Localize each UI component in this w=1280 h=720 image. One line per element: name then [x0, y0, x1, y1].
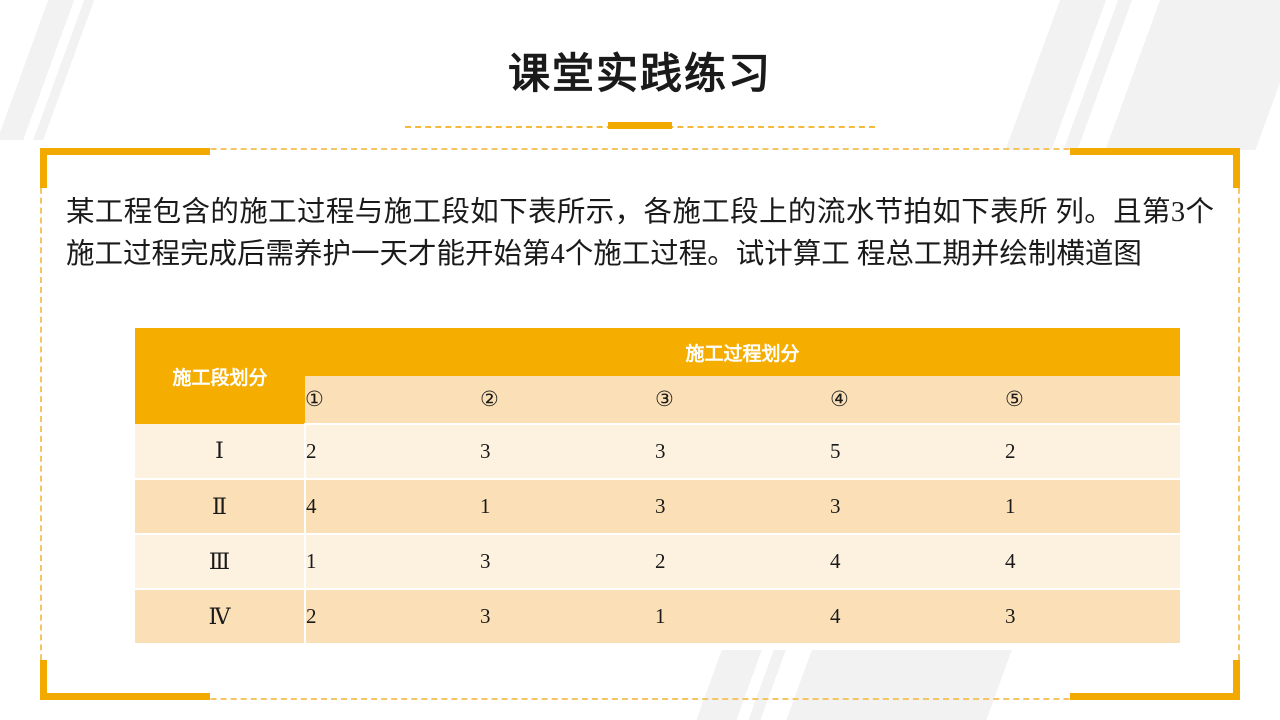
process-label-4: ④	[830, 376, 1005, 424]
cell-r4c5: 3	[1005, 589, 1180, 644]
table-row: Ⅲ 1 3 2 4 4	[135, 534, 1180, 589]
cell-r3c1: 1	[305, 534, 480, 589]
process-label-5: ⑤	[1005, 376, 1180, 424]
row-label-2: Ⅱ	[135, 479, 305, 534]
cell-r4c4: 4	[830, 589, 1005, 644]
cell-r4c1: 2	[305, 589, 480, 644]
cell-r4c3: 1	[655, 589, 830, 644]
corner-bracket-bottom-left	[40, 660, 210, 700]
process-label-2: ②	[480, 376, 655, 424]
cell-r2c2: 1	[480, 479, 655, 534]
cell-r4c2: 3	[480, 589, 655, 644]
cell-r1c3: 3	[655, 424, 830, 479]
corner-bracket-top-right	[1070, 148, 1240, 188]
table-row: Ⅳ 2 3 1 4 3	[135, 589, 1180, 644]
cell-r3c5: 4	[1005, 534, 1180, 589]
cell-r2c5: 1	[1005, 479, 1180, 534]
cell-r3c2: 3	[480, 534, 655, 589]
cell-r3c3: 2	[655, 534, 830, 589]
flow-rhythm-table: 施工段划分 施工过程划分 ① ② ③ ④ ⑤ Ⅰ 2 3 3 5 2 Ⅱ 4	[135, 328, 1180, 645]
cell-r2c1: 4	[305, 479, 480, 534]
row-label-4: Ⅳ	[135, 589, 305, 644]
header-process-division: 施工过程划分	[305, 328, 1180, 376]
row-label-1: Ⅰ	[135, 424, 305, 479]
cell-r1c4: 5	[830, 424, 1005, 479]
cell-r2c3: 3	[655, 479, 830, 534]
table-header-row: 施工段划分 施工过程划分	[135, 328, 1180, 376]
process-label-1: ①	[305, 376, 480, 424]
header-section-division: 施工段划分	[135, 328, 305, 424]
question-line-3: 程总工期并绘制横道图	[857, 239, 1142, 270]
title-accent-bar	[608, 122, 672, 129]
cell-r2c4: 3	[830, 479, 1005, 534]
corner-bracket-bottom-right	[1070, 660, 1240, 700]
question-line-1: 某工程包含的施工过程与施工段如下表所示，各施工段上的流水节拍如下表所	[66, 197, 1048, 228]
cell-r1c5: 2	[1005, 424, 1180, 479]
process-label-3: ③	[655, 376, 830, 424]
corner-bracket-top-left	[40, 148, 210, 188]
cell-r3c4: 4	[830, 534, 1005, 589]
cell-r1c2: 3	[480, 424, 655, 479]
table-row: Ⅰ 2 3 3 5 2	[135, 424, 1180, 479]
table-row: Ⅱ 4 1 3 3 1	[135, 479, 1180, 534]
row-label-3: Ⅲ	[135, 534, 305, 589]
cell-r1c1: 2	[305, 424, 480, 479]
slide-title: 课堂实践练习	[0, 40, 1280, 101]
question-text: 某工程包含的施工过程与施工段如下表所示，各施工段上的流水节拍如下表所 列。且第3…	[66, 192, 1214, 276]
